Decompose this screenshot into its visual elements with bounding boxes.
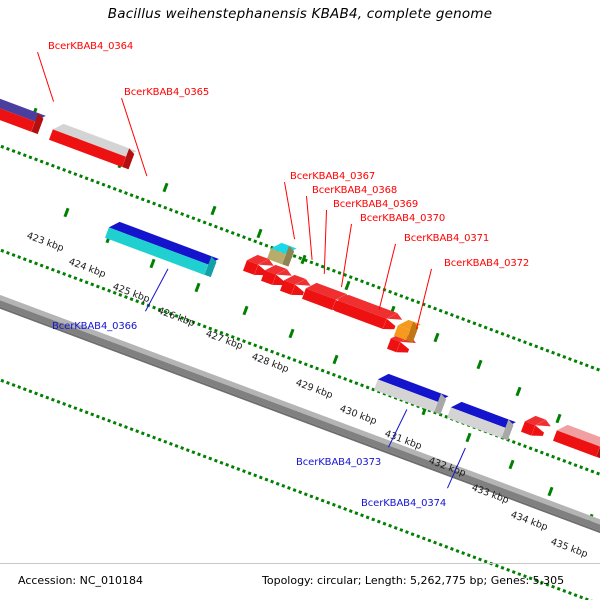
- tick-dash: [64, 208, 70, 217]
- tick-dash: [150, 259, 156, 268]
- tick-dash: [333, 355, 339, 364]
- gene-label-leader: [284, 182, 295, 239]
- tick-dash: [556, 414, 562, 423]
- tick-dash: [257, 229, 263, 238]
- tick-dash: [548, 487, 554, 496]
- tick-dash: [289, 329, 295, 338]
- gene-label-BcerKBAB4_0368[interactable]: BcerKBAB4_0368: [312, 185, 397, 196]
- gene-label-leader: [416, 269, 432, 329]
- topology-text: Topology: circular; Length: 5,262,775 bp…: [262, 574, 564, 587]
- gene-label-leader: [37, 52, 54, 102]
- genome-map-canvas[interactable]: 423 kbp424 kbp425 kbp426 kbp427 kbp428 k…: [0, 0, 600, 600]
- gene-label-leader: [306, 196, 313, 260]
- tick-label: 429 kbp: [294, 377, 334, 401]
- gene-label-BcerKBAB4_0365[interactable]: BcerKBAB4_0365: [124, 87, 209, 98]
- footer-divider: [0, 563, 600, 564]
- gene-label-leader: [145, 269, 168, 312]
- gene-label-BcerKBAB4_0374[interactable]: BcerKBAB4_0374: [361, 498, 446, 509]
- tick-dash: [466, 433, 472, 442]
- genome-viewer: Bacillus weihenstephanensis KBAB4, compl…: [0, 0, 600, 600]
- gene-label-leader: [324, 210, 327, 274]
- gene-label-BcerKBAB4_0371[interactable]: BcerKBAB4_0371: [404, 233, 489, 244]
- tick-dash: [477, 360, 483, 369]
- tick-label: 426 kbp: [156, 305, 196, 329]
- tick-dash: [516, 387, 522, 396]
- gene-label-BcerKBAB4_0367[interactable]: BcerKBAB4_0367: [290, 171, 375, 182]
- tick-dash: [434, 333, 440, 342]
- accession-text: Accession: NC_010184: [18, 574, 143, 587]
- tick-label: 435 kbp: [549, 536, 589, 560]
- gene-label-BcerKBAB4_0369[interactable]: BcerKBAB4_0369: [333, 199, 418, 210]
- tick-dash: [509, 460, 515, 469]
- tick-dash: [345, 281, 351, 290]
- tick-dash: [211, 206, 217, 215]
- tick-dash: [243, 306, 249, 315]
- tick-label: 425 kbp: [111, 281, 151, 305]
- tick-label: 423 kbp: [25, 230, 65, 254]
- gene-label-leader: [379, 244, 396, 310]
- gene-label-BcerKBAB4_0364[interactable]: BcerKBAB4_0364: [48, 41, 133, 52]
- tick-dash: [163, 183, 169, 192]
- gene-label-BcerKBAB4_0366[interactable]: BcerKBAB4_0366: [52, 321, 137, 332]
- gene-label-BcerKBAB4_0373[interactable]: BcerKBAB4_0373: [296, 457, 381, 468]
- gene-label-BcerKBAB4_0372[interactable]: BcerKBAB4_0372: [444, 258, 529, 269]
- tick-dash: [195, 283, 201, 292]
- gene-label-BcerKBAB4_0370[interactable]: BcerKBAB4_0370: [360, 213, 445, 224]
- backbone-top-face: [0, 252, 600, 556]
